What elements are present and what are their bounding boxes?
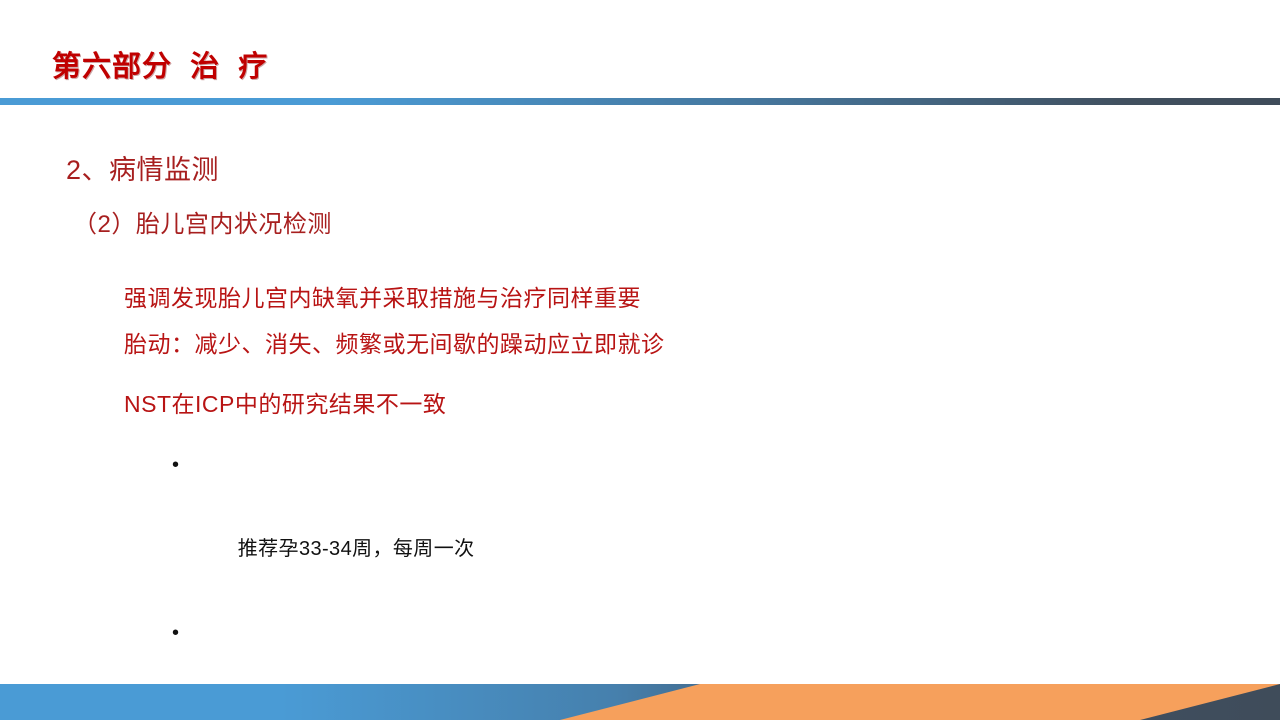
footer-decoration-band [0,684,1280,720]
slide-canvas: 第六部分 治 疗 2、病情监测 （2）胎儿宫内状况检测 强调发现胎儿宫内缺氧并采… [0,0,1280,720]
body-line-3: NST在ICP中的研究结果不一致 [124,381,1124,427]
footer-orange-parallelogram-icon [0,684,1280,720]
page-title: 第六部分 治 疗 [52,43,268,85]
list-item: • 推荐孕33-34周，每周一次 [168,444,1208,612]
list-item-label: 推荐孕33-34周，每周一次 [238,538,475,560]
bullet-dot-icon: • [172,612,179,654]
section-heading: 2、病情监测 [66,148,219,187]
body-line-1: 强调发现胎儿宫内缺氧并采取措施与治疗同样重要 [124,275,1124,321]
header-divider-rule [0,98,1280,105]
subsection-heading: （2）胎儿宫内状况检测 [73,204,332,239]
body-line-2: 胎动：减少、消失、频繁或无间歇的躁动应立即就诊 [124,321,1124,367]
bullet-list: • 推荐孕33-34周，每周一次 • >34周，每周两次 • 应认识到胎心监护局… [168,444,1208,720]
bullet-dot-icon: • [172,444,179,486]
body-text-block: 强调发现胎儿宫内缺氧并采取措施与治疗同样重要 胎动：减少、消失、频繁或无间歇的躁… [124,275,1124,427]
